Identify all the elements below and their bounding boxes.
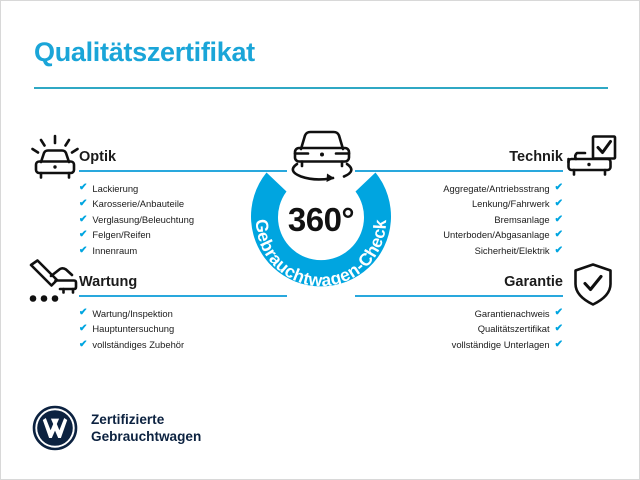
list-item-label: Wartung/Inspektion — [92, 306, 172, 322]
list-item-label: Aggregate/Antriebsstrang — [443, 181, 549, 197]
list-item: vollständige Unterlagen✔ — [355, 337, 563, 353]
list-item-label: Innenraum — [92, 243, 137, 259]
car-shine-icon — [29, 134, 81, 187]
list-item-label: Felgen/Reifen — [92, 227, 150, 243]
check-icon: ✔ — [79, 340, 87, 350]
list-item-label: Karosserie/Anbauteile — [92, 196, 184, 212]
check-icon: ✔ — [79, 246, 87, 256]
check-icon: ✔ — [79, 230, 87, 240]
page-title: Qualitätszertifikat — [34, 37, 255, 68]
car-service-icon — [26, 259, 78, 310]
list-item-label: Qualitätszertifikat — [478, 321, 550, 337]
vw-lockup: Zertifizierte Gebrauchtwagen — [32, 405, 201, 451]
list-item-label: Lenkung/Fahrwerk — [472, 196, 550, 212]
qualitaetszertifikat-page: Qualitätszertifikat Optik ✔Lackierung ✔K… — [0, 0, 640, 480]
list-item-label: Unterboden/Abgasanlage — [443, 227, 549, 243]
list-item-label: vollständiges Zubehör — [92, 337, 184, 353]
footer-text: Zertifizierte Gebrauchtwagen — [91, 411, 201, 445]
vw-logo — [32, 405, 78, 451]
check-icon: ✔ — [79, 183, 87, 193]
badge-center-label: 360° — [229, 201, 413, 239]
shield-check-icon — [571, 262, 615, 313]
check-icon: ✔ — [79, 199, 87, 209]
list-item: ✔Hauptuntersuchung — [79, 321, 287, 337]
check-icon: ✔ — [555, 340, 563, 350]
list-item: Qualitätszertifikat✔ — [355, 321, 563, 337]
list-item-label: Verglasung/Beleuchtung — [92, 212, 194, 228]
check-icon: ✔ — [79, 324, 87, 334]
check-icon: ✔ — [555, 183, 563, 193]
list-item-label: Lackierung — [92, 181, 138, 197]
car-rotate-icon — [281, 123, 363, 185]
title-divider — [34, 87, 608, 89]
check-icon: ✔ — [79, 215, 87, 225]
check-icon: ✔ — [79, 308, 87, 318]
list-item-label: Sicherheit/Elektrik — [475, 243, 550, 259]
check-icon: ✔ — [555, 246, 563, 256]
check-icon: ✔ — [555, 324, 563, 334]
list-item-label: Hauptuntersuchung — [92, 321, 174, 337]
car-checkbox-icon — [567, 135, 617, 186]
check-icon: ✔ — [555, 308, 563, 318]
gebrauchtwagen-check-badge: Gebrauchtwagen-Check 360° — [229, 129, 413, 313]
list-item: ✔vollständiges Zubehör — [79, 337, 287, 353]
list-item-label: vollständige Unterlagen — [452, 337, 550, 353]
footer-line-1: Zertifizierte — [91, 411, 201, 428]
list-item-label: Garantienachweis — [475, 306, 550, 322]
check-icon: ✔ — [555, 199, 563, 209]
check-icon: ✔ — [555, 215, 563, 225]
list-item-label: Bremsanlage — [494, 212, 549, 228]
check-icon: ✔ — [555, 230, 563, 240]
footer-line-2: Gebrauchtwagen — [91, 428, 201, 445]
